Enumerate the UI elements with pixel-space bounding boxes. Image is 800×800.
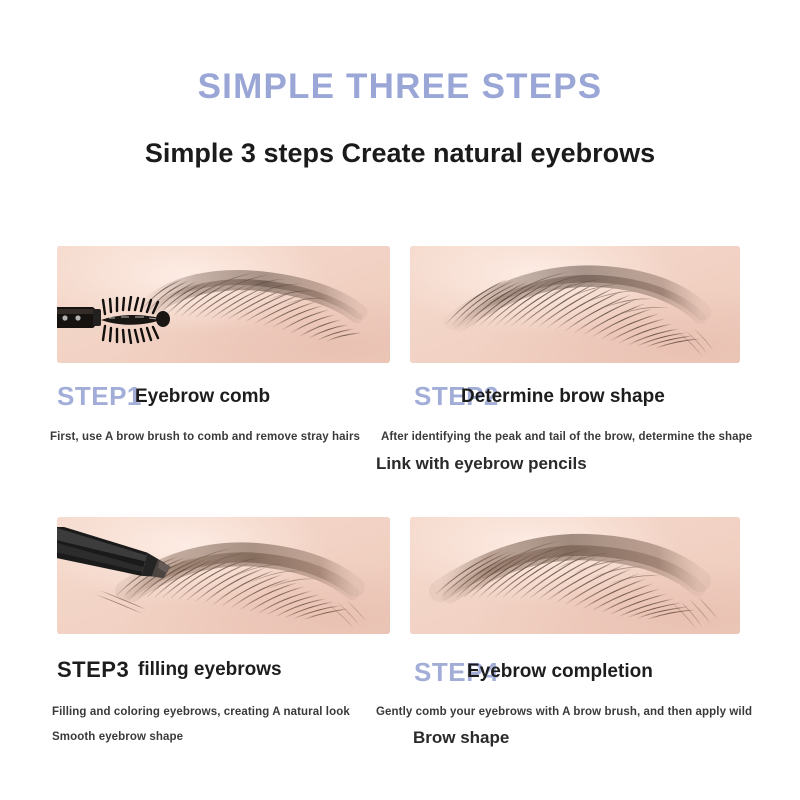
step-3-image (57, 517, 390, 634)
step-2-description-line-1: After identifying the peak and tail of t… (381, 431, 752, 443)
eyebrow-illustration (410, 517, 740, 634)
step-1-number: STEP1 (57, 381, 142, 412)
page-root: SIMPLE THREE STEPS Simple 3 steps Create… (0, 0, 800, 800)
page-subtitle: Simple 3 steps Create natural eyebrows (0, 137, 800, 169)
step-1-heading: Eyebrow comb (135, 386, 270, 408)
step-2-image (410, 246, 740, 363)
step-3-description-line-2: Smooth eyebrow shape (52, 731, 183, 743)
step-2-heading: Determine brow shape (461, 386, 665, 408)
step-3-heading: filling eyebrows (138, 659, 282, 681)
eyebrow-illustration (410, 246, 740, 363)
spoolie-brush-icon (57, 296, 201, 344)
step-4-image (410, 517, 740, 634)
step-1-image (57, 246, 390, 363)
step-3-number: STEP3 (57, 657, 129, 683)
step-2-description-line-2: Link with eyebrow pencils (376, 454, 587, 474)
eyebrow-pencil-icon (57, 527, 182, 587)
step-4-description-line-1: Gently comb your eyebrows with A brow br… (376, 706, 752, 718)
step-3-description-line-1: Filling and coloring eyebrows, creating … (52, 706, 350, 718)
step-1-description-line-1: First, use A brow brush to comb and remo… (50, 431, 360, 443)
step-4-heading: Eyebrow completion (467, 661, 653, 683)
page-title: SIMPLE THREE STEPS (0, 68, 800, 107)
step-4-description-line-2: Brow shape (413, 728, 509, 748)
